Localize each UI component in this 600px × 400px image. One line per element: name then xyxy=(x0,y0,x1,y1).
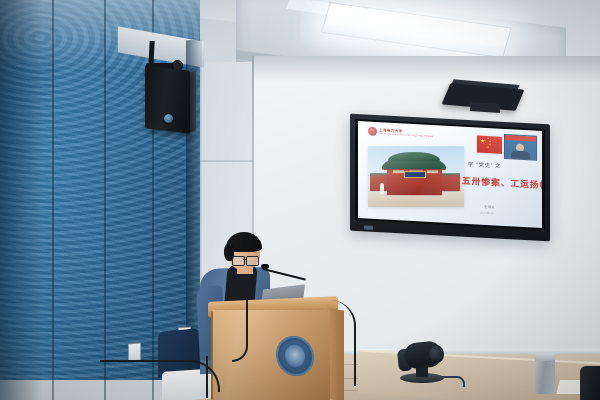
microphone-icon[interactable] xyxy=(261,264,269,269)
gate-wing-right xyxy=(440,173,460,191)
panel-seam xyxy=(104,0,106,400)
flag-star-small: ★ xyxy=(487,147,489,150)
emblem-inner-crest xyxy=(284,344,305,369)
gate-plaque xyxy=(404,171,426,178)
cable-right-run xyxy=(330,300,356,386)
participant-body-icon xyxy=(511,150,530,160)
slide-photo-gate xyxy=(368,146,464,207)
slide-institution-logo: 上海电力大学 SHANGHAI UNIVERSITY OF ELECTRIC P… xyxy=(368,127,433,140)
thermos-flask[interactable] xyxy=(535,356,555,394)
wall-display[interactable]: 上海电力大学 SHANGHAI UNIVERSITY OF ELECTRIC P… xyxy=(350,114,550,242)
panel-left-shading xyxy=(0,0,42,400)
glasses-lens-left-icon xyxy=(232,256,245,266)
remote-participant-video[interactable] xyxy=(504,134,537,161)
slide-pretitle: 学 “党史” 之 xyxy=(468,160,501,170)
wall-top-shading xyxy=(252,56,600,82)
gate-figure xyxy=(380,183,384,194)
gate-roof-upper xyxy=(388,152,440,161)
display-screen[interactable]: 上海电力大学 SHANGHAI UNIVERSITY OF ELECTRIC P… xyxy=(358,121,542,228)
cable-podium-drop xyxy=(232,300,248,362)
cable-floor-run xyxy=(100,360,220,392)
speaker-driver-icon xyxy=(163,113,174,124)
display-indicator-led xyxy=(364,225,373,229)
dark-object-foreground xyxy=(580,366,600,400)
university-seal-icon xyxy=(368,127,377,136)
wall-seam-horizontal xyxy=(196,160,254,162)
china-flag-icon: ★ ★ ★ ★ ★ xyxy=(477,135,502,153)
glasses-bridge-icon xyxy=(243,259,247,260)
flag-star-small: ★ xyxy=(489,144,491,147)
ptz-camera-cable xyxy=(441,376,465,387)
video-tile-header xyxy=(505,135,536,142)
wall-outlet[interactable] xyxy=(128,343,141,362)
flag-star-large: ★ xyxy=(480,139,485,145)
slide-title: 五卅惨案、工运扬帆 xyxy=(462,175,542,192)
slide-presenter-name: 主讲人 xyxy=(484,204,495,210)
glasses-lens-right-icon xyxy=(246,256,259,266)
thermos-cap xyxy=(534,353,556,361)
lecture-hall-photo: 上海电力大学 SHANGHAI UNIVERSITY OF ELECTRIC P… xyxy=(0,0,600,400)
panel-seam xyxy=(52,0,54,400)
slide-presenter-date: 2021年6月 xyxy=(480,211,494,216)
